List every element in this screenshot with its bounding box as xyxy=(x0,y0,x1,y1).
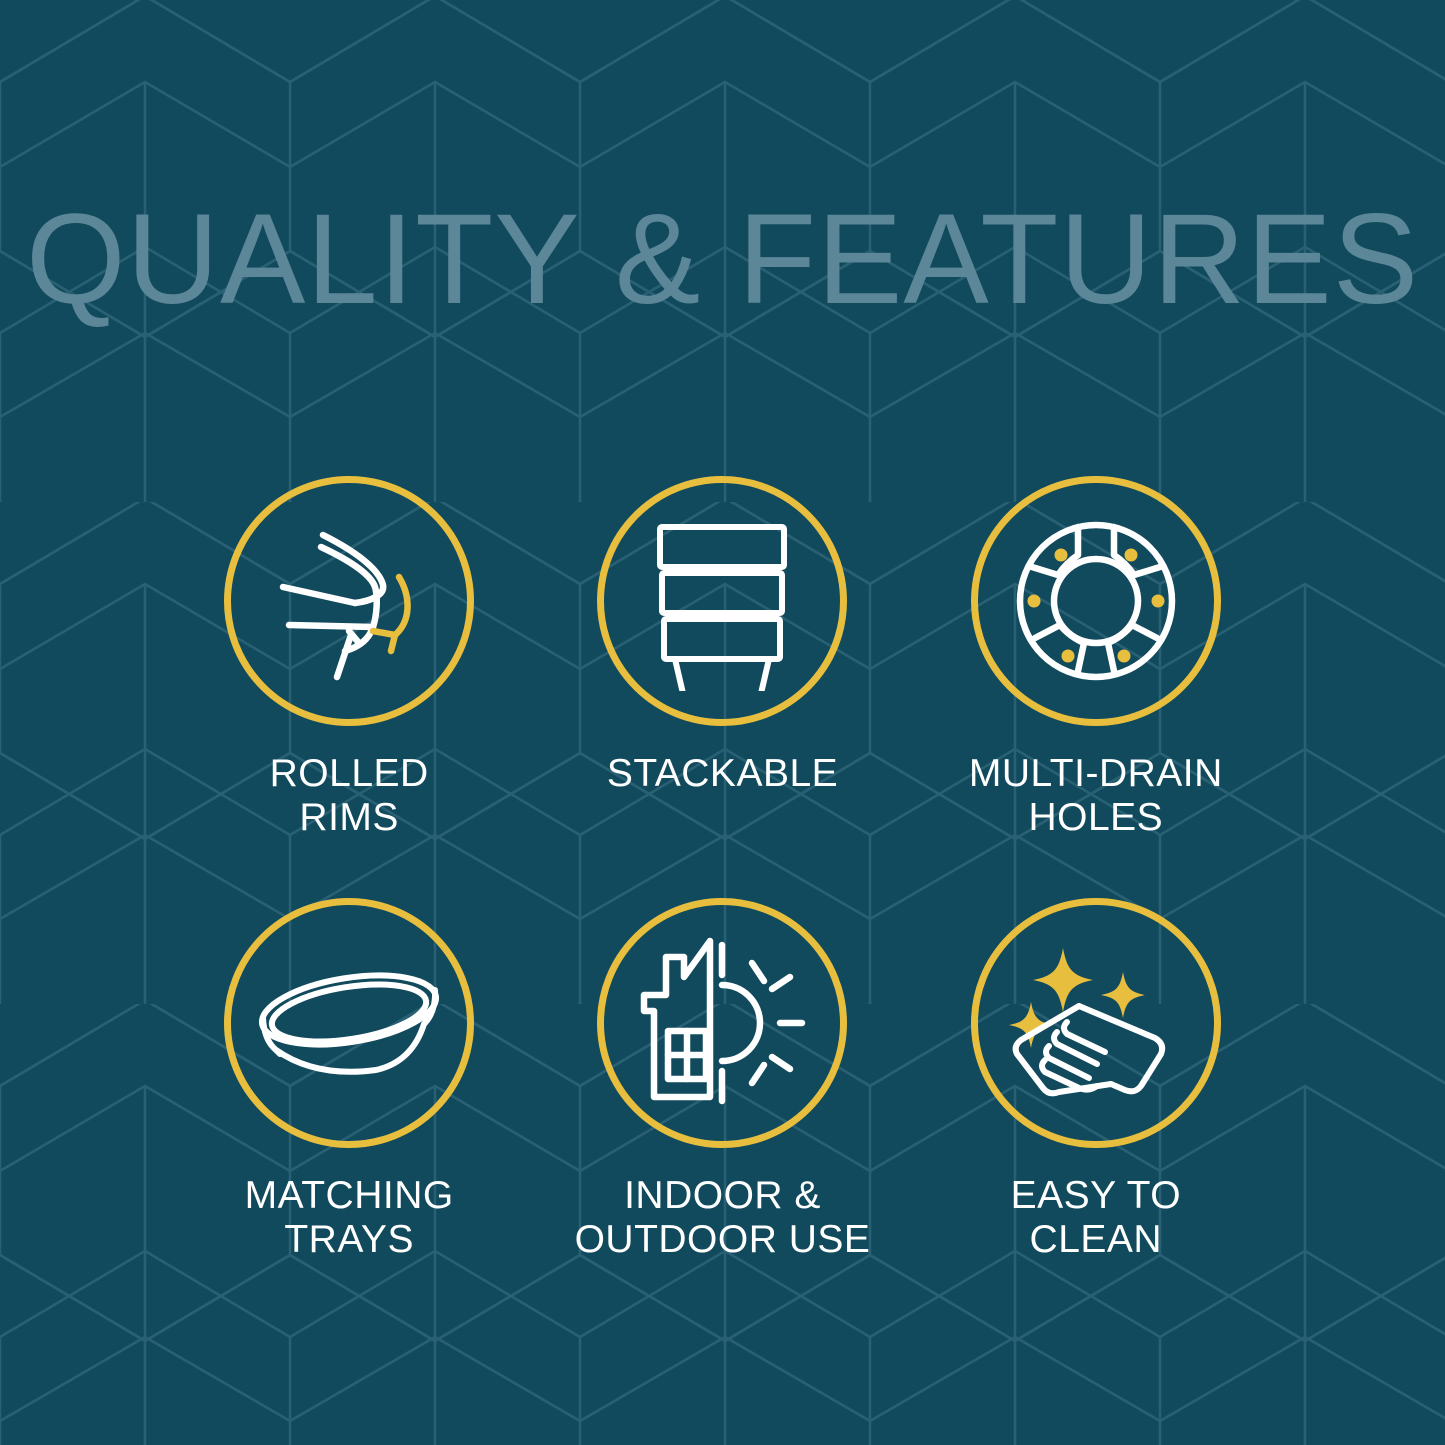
feature-item-easy-to-clean: EASY TO CLEAN xyxy=(909,898,1282,1262)
icon-ring xyxy=(224,898,474,1148)
house-sun-icon xyxy=(632,933,812,1113)
rolled-rim-icon xyxy=(259,511,439,691)
icon-ring xyxy=(597,476,847,726)
icon-ring xyxy=(971,476,1221,726)
drain-holes-icon xyxy=(1006,511,1186,691)
oval-tray-icon xyxy=(254,928,444,1118)
feature-label: ROLLED RIMS xyxy=(270,752,429,840)
feature-label: MATCHING TRAYS xyxy=(245,1174,454,1262)
feature-label: MULTI-DRAIN HOLES xyxy=(969,752,1223,840)
icon-ring xyxy=(971,898,1221,1148)
feature-item-rolled-rims: ROLLED RIMS xyxy=(163,476,536,840)
feature-item-stackable: STACKABLE xyxy=(536,476,909,840)
infographic-canvas: QUALITY & FEATURES xyxy=(0,0,1445,1445)
feature-label: EASY TO CLEAN xyxy=(1011,1174,1181,1262)
feature-item-matching-trays: MATCHING TRAYS xyxy=(163,898,536,1262)
feature-label: STACKABLE xyxy=(607,752,838,796)
page-title: QUALITY & FEATURES xyxy=(0,196,1445,324)
feature-grid: ROLLED RIMS STACKABLE xyxy=(163,476,1283,1262)
feature-item-indoor-outdoor: INDOOR & OUTDOOR USE xyxy=(536,898,909,1262)
icon-ring xyxy=(224,476,474,726)
stacked-pots-icon xyxy=(632,511,812,691)
feature-item-multi-drain-holes: MULTI-DRAIN HOLES xyxy=(909,476,1282,840)
feature-label: INDOOR & OUTDOOR USE xyxy=(575,1174,871,1262)
icon-ring xyxy=(597,898,847,1148)
hand-wipe-sparkle-icon xyxy=(1001,928,1191,1118)
